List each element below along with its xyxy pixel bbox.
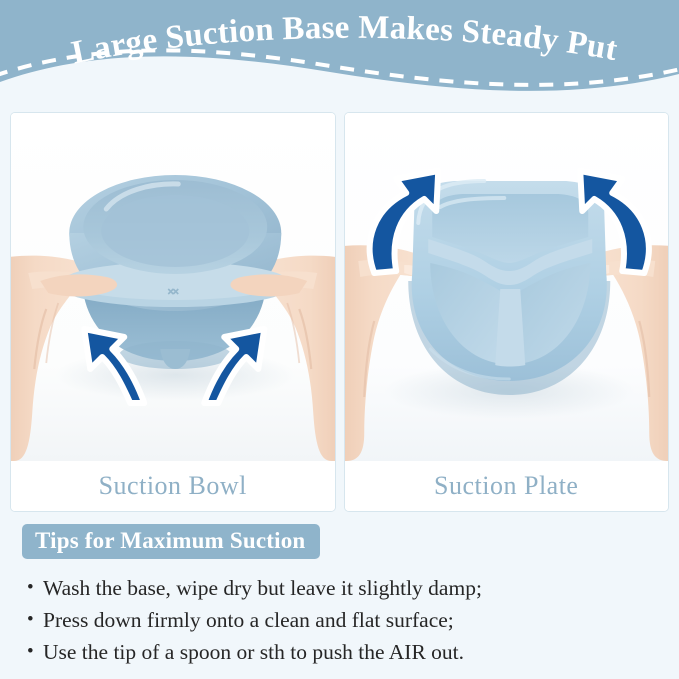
card-label-suction-bowl: Suction Bowl [11, 461, 335, 511]
tips-section: Tips for Maximum Suction Wash the base, … [0, 524, 679, 668]
compartment-divider-vertical [495, 289, 525, 367]
product-card-row: Suction Bowl [10, 112, 669, 512]
header-banner: Large Suction Base Makes Steady Put [0, 0, 679, 108]
card-suction-plate[interactable]: Suction Plate [344, 112, 670, 512]
tip-item: Press down firmly onto a clean and flat … [27, 604, 679, 636]
suction-bowl-photo [11, 113, 335, 461]
card-label-suction-plate: Suction Plate [345, 461, 669, 511]
tip-item: Use the tip of a spoon or sth to push th… [27, 636, 679, 668]
tips-list: Wash the base, wipe dry but leave it sli… [0, 572, 679, 668]
tips-badge: Tips for Maximum Suction [22, 524, 320, 559]
suction-plate-photo [345, 113, 669, 461]
suction-bowl-illustration [11, 113, 335, 461]
card-suction-bowl[interactable]: Suction Bowl [10, 112, 336, 512]
header-banner-svg: Large Suction Base Makes Steady Put [0, 0, 679, 108]
tip-item: Wash the base, wipe dry but leave it sli… [27, 572, 679, 604]
infographic-page: Large Suction Base Makes Steady Put [0, 0, 679, 679]
suction-plate-illustration [345, 113, 669, 461]
